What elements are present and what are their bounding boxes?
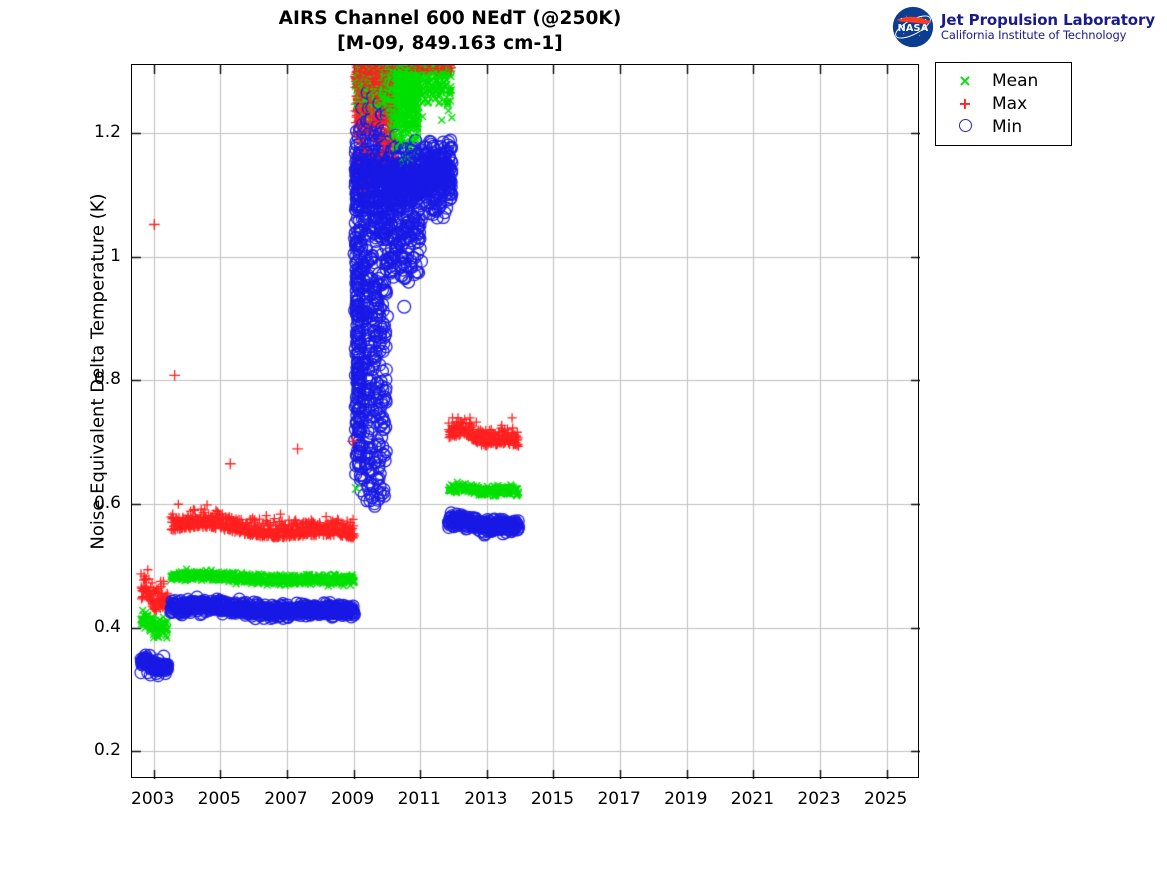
max-marker-icon: + — [944, 96, 986, 112]
x-tick-label-2005: 2005 — [198, 789, 241, 809]
legend: × Mean + Max Min — [935, 62, 1072, 146]
legend-item-mean[interactable]: × Mean — [944, 69, 1063, 92]
legend-label-max: Max — [986, 94, 1027, 114]
x-tick-label-2025: 2025 — [864, 789, 907, 809]
min-marker-icon — [944, 119, 986, 135]
legend-label-mean: Mean — [986, 71, 1038, 91]
legend-item-min[interactable]: Min — [944, 115, 1063, 138]
mean-marker-icon: × — [944, 73, 986, 89]
legend-item-max[interactable]: + Max — [944, 92, 1063, 115]
x-tick-label-2013: 2013 — [464, 789, 507, 809]
scatter-data-layer — [132, 65, 920, 779]
x-tick-label-2023: 2023 — [797, 789, 840, 809]
x-tick-label-2009: 2009 — [331, 789, 374, 809]
x-tick-label-2007: 2007 — [264, 789, 307, 809]
x-tick-label-2019: 2019 — [664, 789, 707, 809]
x-tick-label-2011: 2011 — [398, 789, 441, 809]
plot-area — [131, 64, 919, 778]
x-tick-label-2021: 2021 — [731, 789, 774, 809]
x-tick-label-2015: 2015 — [531, 789, 574, 809]
figure-root: AIRS Channel 600 NEdT (@250K) [M-09, 849… — [0, 0, 1167, 875]
legend-label-min: Min — [986, 117, 1022, 137]
x-tick-label-2003: 2003 — [131, 789, 174, 809]
x-tick-label-2017: 2017 — [597, 789, 640, 809]
